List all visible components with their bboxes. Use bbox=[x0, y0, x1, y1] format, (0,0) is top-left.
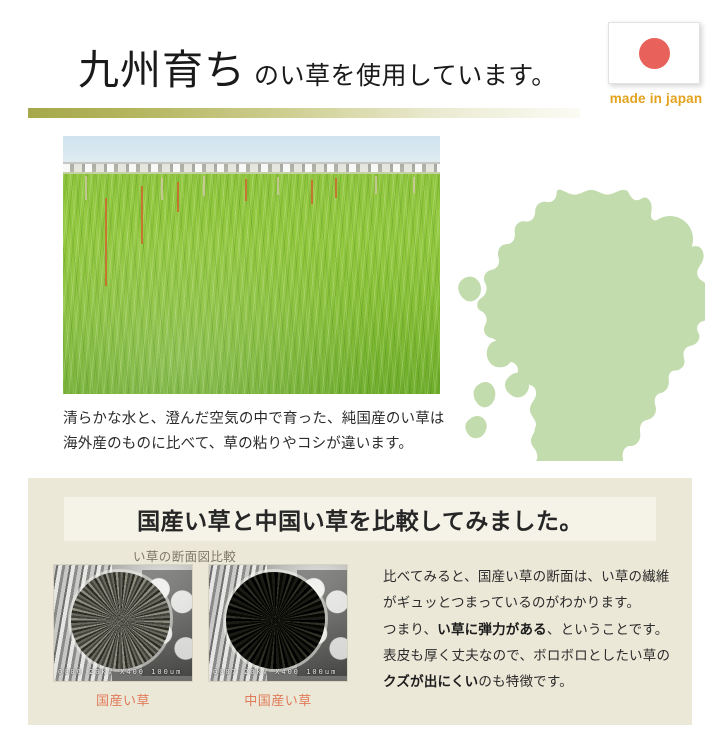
field-stake bbox=[141, 186, 143, 244]
comparison-panel: 国産い草と中国い草を比較してみました。 い草の断面図比較 0006 20kV X… bbox=[28, 478, 692, 725]
micrograph-scale-overlay: 0006 20kV X400 100um 4035 bbox=[58, 668, 188, 679]
kyushu-map bbox=[455, 131, 705, 461]
japan-flag-icon bbox=[608, 22, 700, 84]
body-text: のも特徴です。 bbox=[478, 674, 573, 690]
hero-caption-line-1: 清らかな水と、澄んだ空気の中で育った、純国産のい草は bbox=[63, 407, 445, 432]
flag-red-disc bbox=[639, 38, 670, 69]
field-stake bbox=[161, 178, 163, 200]
body-text: 、ということです。 bbox=[547, 622, 669, 638]
body-text: 表皮も厚く丈夫なので、ボロボロとしたい草の bbox=[383, 648, 670, 664]
hero-caption: 清らかな水と、澄んだ空気の中で育った、純国産のい草は 海外産のものに比べて、草の… bbox=[63, 407, 445, 458]
chinese-igusa-micrograph: 0007 20kV X400 100um 4037 bbox=[208, 564, 348, 682]
comparison-heading-banner: 国産い草と中国い草を比較してみました。 bbox=[64, 497, 656, 541]
field-stake bbox=[177, 182, 179, 212]
field-stake bbox=[413, 177, 415, 193]
comparison-description: 比べてみると、国産い草の断面は、い草の繊維がギュッとつまっているのがわかります。… bbox=[383, 564, 683, 696]
field-stake bbox=[311, 180, 313, 204]
page-title: 九州育ちのい草を使用しています。 bbox=[78, 36, 557, 96]
hero-caption-line-2: 海外産のものに比べて、草の粘りやコシが違います。 bbox=[63, 432, 445, 457]
field-stake bbox=[335, 178, 337, 198]
comparison-description-line: 比べてみると、国産い草の断面は、い草の繊維 bbox=[383, 564, 683, 590]
emphasis-text: クズが出にくい bbox=[383, 674, 478, 690]
comparison-description-line: がギュッとつまっているのがわかります。 bbox=[383, 590, 683, 616]
comparison-description-line: 表皮も厚く丈夫なので、ボロボロとしたい草の bbox=[383, 643, 683, 669]
igusa-field-photo bbox=[63, 136, 440, 394]
comparison-description-line: クズが出にくいのも特徴です。 bbox=[383, 669, 683, 695]
body-text: つまり、 bbox=[383, 622, 437, 638]
comparison-heading-text: 国産い草と中国い草を比較してみました。 bbox=[137, 502, 583, 536]
gradient-divider bbox=[28, 108, 580, 118]
field-stake bbox=[245, 179, 247, 201]
photo-grass-field bbox=[63, 174, 440, 394]
page-title-sub: のい草を使用しています。 bbox=[246, 63, 557, 90]
field-stake bbox=[203, 176, 205, 196]
comparison-description-line: つまり、い草に弾力がある、ということです。 bbox=[383, 617, 683, 643]
field-stake bbox=[85, 176, 87, 200]
chinese-igusa-caption: 中国産い草 bbox=[208, 690, 348, 709]
emphasis-text: い草に弾力がある bbox=[437, 622, 547, 638]
domestic-igusa-micrograph: 0006 20kV X400 100um 4035 bbox=[53, 564, 193, 682]
body-text: がギュッとつまっているのがわかります。 bbox=[383, 595, 640, 611]
page-header: 九州育ちのい草を使用しています。 made in japan bbox=[0, 0, 720, 125]
page-title-main: 九州育ち bbox=[78, 47, 246, 93]
field-stake bbox=[375, 176, 377, 194]
made-in-japan-badge: made in japan bbox=[608, 22, 704, 106]
made-in-japan-label: made in japan bbox=[608, 91, 704, 106]
field-stake bbox=[105, 198, 107, 286]
micrograph-scale-overlay: 0007 20kV X400 100um 4037 bbox=[213, 668, 343, 679]
body-text: 比べてみると、国産い草の断面は、い草の繊維 bbox=[383, 569, 670, 585]
domestic-igusa-caption: 国産い草 bbox=[53, 690, 193, 709]
hero-section: 清らかな水と、澄んだ空気の中で育った、純国産のい草は 海外産のものに比べて、草の… bbox=[0, 125, 720, 470]
field-stake bbox=[277, 177, 279, 195]
cross-section-label: い草の断面図比較 bbox=[133, 546, 236, 565]
